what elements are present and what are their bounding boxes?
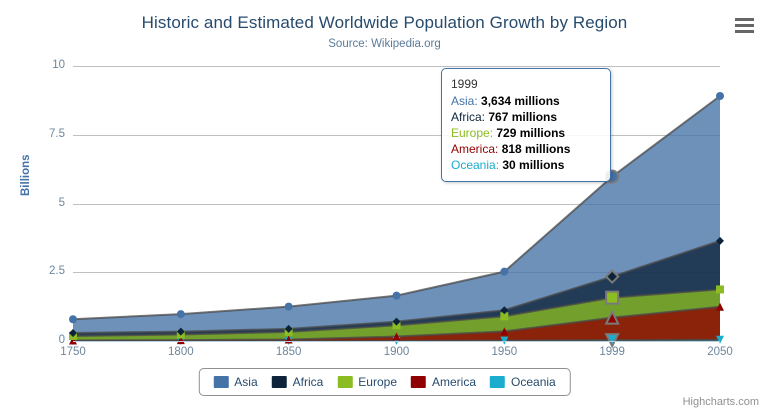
legend-item-label: Africa <box>293 375 324 389</box>
highcharts-container: Historic and Estimated Worldwide Populat… <box>0 0 769 416</box>
x-axis-tick-label: 1950 <box>492 346 518 358</box>
point-asia[interactable] <box>393 292 401 300</box>
point-asia[interactable] <box>500 268 508 276</box>
point-europe[interactable] <box>606 292 618 304</box>
tooltip-row: Oceania: 30 millions <box>451 157 601 173</box>
legend-item-label: America <box>432 375 476 389</box>
hamburger-bar <box>735 24 754 27</box>
legend-item-america[interactable]: America <box>411 375 476 389</box>
hamburger-bar <box>735 30 754 33</box>
credits-link[interactable]: Highcharts.com <box>683 396 759 408</box>
x-axis-tick-label: 1900 <box>384 346 410 358</box>
y-axis-title: Billions <box>20 154 32 196</box>
chart-subtitle: Source: Wikipedia.org <box>0 38 769 50</box>
y-axis-tick-label: 10 <box>5 59 65 71</box>
tooltip-row: America: 818 millions <box>451 141 601 157</box>
tooltip-row: Africa: 767 millions <box>451 109 601 125</box>
point-asia[interactable] <box>177 310 185 318</box>
legend-item-oceania[interactable]: Oceania <box>490 375 556 389</box>
tooltip-series-value: 767 millions <box>488 110 557 124</box>
tooltip-series-name: Asia: <box>451 94 481 108</box>
series-layer <box>73 66 720 341</box>
x-axis-tick-label: 1999 <box>599 346 625 358</box>
legend-item-europe[interactable]: Europe <box>337 375 397 389</box>
tooltip-rows: Asia: 3,634 millionsAfrica: 767 millions… <box>451 93 601 173</box>
tooltip-header: 1999 <box>451 76 601 92</box>
tooltip-series-name: Africa: <box>451 110 488 124</box>
legend-items: AsiaAfricaEuropeAmericaOceania <box>213 375 555 389</box>
tooltip-series-name: Europe: <box>451 126 496 140</box>
legend-swatch-icon <box>213 376 228 388</box>
x-axis-tick-label: 1750 <box>60 346 86 358</box>
x-axis-tick-label: 1850 <box>276 346 302 358</box>
hamburger-menu-icon[interactable] <box>731 13 757 37</box>
x-axis-line <box>73 341 720 342</box>
legend-item-asia[interactable]: Asia <box>213 375 257 389</box>
tooltip-series-value: 818 millions <box>502 142 571 156</box>
x-axis-tick-label: 1800 <box>168 346 194 358</box>
tooltip-series-value: 30 millions <box>502 158 564 172</box>
tooltip: 1999 Asia: 3,634 millionsAfrica: 767 mil… <box>441 68 611 182</box>
legend-swatch-icon <box>337 376 352 388</box>
y-axis-tick-label: 7.5 <box>5 128 65 140</box>
point-asia[interactable] <box>69 315 77 323</box>
y-axis-tick-label: 2.5 <box>5 265 65 277</box>
legend-swatch-icon <box>490 376 505 388</box>
legend-item-label: Europe <box>358 375 397 389</box>
legend-item-label: Asia <box>234 375 257 389</box>
legend-item-label: Oceania <box>511 375 556 389</box>
legend-item-africa[interactable]: Africa <box>272 375 324 389</box>
legend: AsiaAfricaEuropeAmericaOceania <box>198 368 570 396</box>
tooltip-series-value: 729 millions <box>496 126 565 140</box>
point-europe[interactable] <box>716 285 724 293</box>
chart-title: Historic and Estimated Worldwide Populat… <box>0 13 769 33</box>
x-axis-tick-label: 2050 <box>707 346 733 358</box>
tooltip-series-value: 3,634 millions <box>481 94 560 108</box>
y-axis-tick-label: 5 <box>5 197 65 209</box>
legend-swatch-icon <box>272 376 287 388</box>
legend-swatch-icon <box>411 376 426 388</box>
tooltip-series-name: America: <box>451 142 502 156</box>
hamburger-bar <box>735 18 754 21</box>
tooltip-series-name: Oceania: <box>451 158 502 172</box>
point-asia[interactable] <box>716 92 724 100</box>
plot-area <box>73 66 720 341</box>
tooltip-row: Europe: 729 millions <box>451 125 601 141</box>
y-axis-tick-label: 0 <box>5 334 65 346</box>
tooltip-row: Asia: 3,634 millions <box>451 93 601 109</box>
point-asia[interactable] <box>285 303 293 311</box>
